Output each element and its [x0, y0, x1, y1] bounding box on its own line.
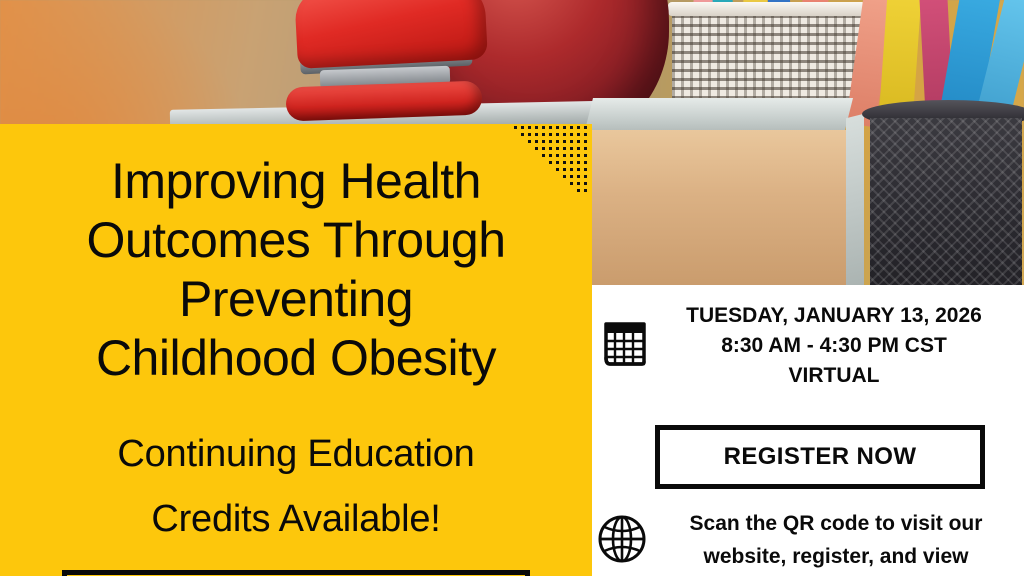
dot: [549, 147, 552, 150]
calendar-icon: [598, 318, 652, 375]
title-line-4: Childhood Obesity: [8, 329, 584, 388]
event-date: TUESDAY, JANUARY 13, 2026: [652, 301, 1016, 331]
dot: [542, 133, 545, 136]
book-pages: [585, 130, 853, 290]
dot: [514, 126, 517, 129]
cropped-bottom-box: [62, 570, 530, 576]
black-mesh-pencil-cup: [870, 118, 1022, 290]
dot: [584, 140, 587, 143]
dot: [570, 147, 573, 150]
dot: [542, 147, 545, 150]
event-location: VIRTUAL: [652, 361, 1016, 391]
event-flyer: Improving Health Outcomes Through Preven…: [0, 0, 1024, 576]
title-panel: Improving Health Outcomes Through Preven…: [0, 124, 592, 576]
dot: [584, 147, 587, 150]
subtitle: Continuing Education Credits Available!: [0, 422, 592, 552]
dot: [584, 126, 587, 129]
dot: [563, 126, 566, 129]
qr-instruction-row: Scan the QR code to visit our website, r…: [592, 507, 1024, 573]
title-line-1: Improving Health: [8, 152, 584, 211]
event-datetime-row: TUESDAY, JANUARY 13, 2026 8:30 AM - 4:30…: [592, 301, 1024, 391]
dot: [535, 133, 538, 136]
page-title: Improving Health Outcomes Through Preven…: [0, 152, 592, 388]
dot: [577, 133, 580, 136]
subtitle-line-2: Credits Available!: [0, 487, 592, 552]
dot: [570, 126, 573, 129]
dot: [556, 147, 559, 150]
dot: [528, 133, 531, 136]
dot: [535, 140, 538, 143]
dot: [584, 133, 587, 136]
subtitle-line-1: Continuing Education: [0, 422, 592, 487]
dot: [556, 126, 559, 129]
book-edge: [846, 114, 864, 290]
dot: [556, 140, 559, 143]
dot: [563, 133, 566, 136]
event-details-panel: TUESDAY, JANUARY 13, 2026 8:30 AM - 4:30…: [592, 285, 1024, 576]
dot: [535, 147, 538, 150]
qr-line-2: website, register, and view: [654, 540, 1018, 573]
title-line-3: Preventing: [8, 270, 584, 329]
dot: [577, 147, 580, 150]
event-time: 8:30 AM - 4:30 PM CST: [652, 331, 1016, 361]
event-datetime-text: TUESDAY, JANUARY 13, 2026 8:30 AM - 4:30…: [652, 301, 1024, 391]
dot: [521, 126, 524, 129]
dot: [542, 126, 545, 129]
dot: [549, 140, 552, 143]
dot: [542, 140, 545, 143]
dot: [563, 140, 566, 143]
qr-instruction-text: Scan the QR code to visit our website, r…: [654, 507, 1024, 573]
dot: [549, 133, 552, 136]
dot: [556, 133, 559, 136]
dot: [528, 126, 531, 129]
dot: [570, 133, 573, 136]
red-stapler-body: [294, 0, 488, 69]
dot: [563, 147, 566, 150]
register-now-label: REGISTER NOW: [724, 443, 917, 471]
dot: [577, 126, 580, 129]
register-now-button[interactable]: REGISTER NOW: [655, 425, 985, 489]
dot: [535, 126, 538, 129]
white-cup-rim: [668, 2, 866, 16]
dot: [570, 140, 573, 143]
title-line-2: Outcomes Through: [8, 211, 584, 270]
dot: [577, 140, 580, 143]
qr-line-1: Scan the QR code to visit our: [654, 507, 1018, 540]
dot: [549, 126, 552, 129]
dot: [521, 133, 524, 136]
stapler-base: [285, 81, 482, 122]
globe-icon: [596, 513, 654, 570]
dot: [528, 140, 531, 143]
